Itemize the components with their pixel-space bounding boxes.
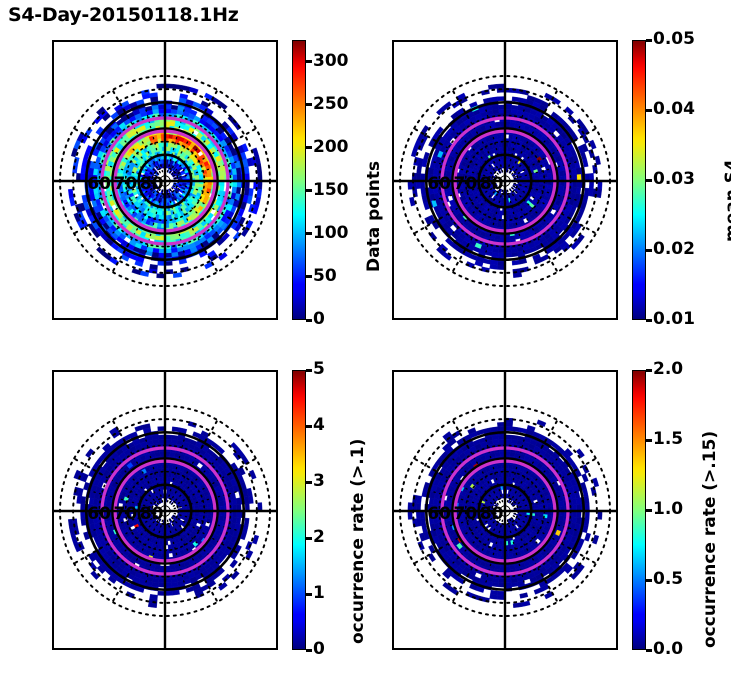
colorbar-tick-mark: [646, 579, 652, 582]
colorbar-tick-mark: [646, 439, 652, 442]
panel-occurrence-rate-p15: 607080: [392, 370, 618, 650]
colorbar-tick-mark: [646, 649, 652, 652]
colorbar-tick-label: 0.05: [653, 29, 695, 49]
colorbar-tick-mark: [646, 369, 652, 372]
radial-tick-label: 60: [87, 504, 111, 524]
colorbar-gradient-occurrence-rate-p1: [292, 370, 306, 650]
colorbar-tick-label: 2.0: [653, 359, 683, 379]
colorbar-tick-label: 1: [313, 583, 325, 603]
colorbar-tick-mark: [306, 103, 312, 106]
colorbar-mean-s4: 0.010.020.030.040.05: [632, 40, 646, 320]
colorbar-gradient-occurrence-rate-p15: [632, 370, 646, 650]
colorbar-tick-label: 100: [313, 223, 349, 243]
colorbar-tick-mark: [306, 189, 312, 192]
colorbar-gradient-data-points: [292, 40, 306, 320]
colorbar-tick-mark: [306, 537, 312, 540]
colorbar-tick-mark: [306, 146, 312, 149]
colorbar-tick-mark: [306, 60, 312, 63]
radial-tick-label: 60: [87, 174, 111, 194]
colorbar-tick-label: 1.5: [653, 429, 683, 449]
panel-occurrence-rate-p1: 607080: [52, 370, 278, 650]
colorbar-tick-mark: [646, 509, 652, 512]
radial-tick-label: 80: [480, 174, 504, 194]
panel-mean-s4: 607080: [392, 40, 618, 320]
radial-tick-label: 70: [114, 504, 138, 524]
colorbar-tick-label: 150: [313, 180, 349, 200]
page-title: S4-Day-20150118.1Hz: [8, 4, 239, 26]
radial-tick-label: 70: [114, 174, 138, 194]
colorbar-tick-mark: [306, 369, 312, 372]
colorbar-label-occurrence-rate-p1: occurrence rate (>.1): [348, 439, 368, 644]
radial-tick-label: 70: [454, 174, 478, 194]
colorbar-tick-label: 3: [313, 471, 325, 491]
colorbar-data-points: 050100150200250300: [292, 40, 306, 320]
colorbar-tick-label: 0.0: [653, 639, 683, 659]
colorbar-tick-label: 0: [313, 309, 325, 329]
colorbar-tick-label: 0.04: [653, 99, 695, 119]
colorbar-tick-label: 1.0: [653, 499, 683, 519]
colorbar-tick-mark: [646, 109, 652, 112]
colorbar-tick-label: 0: [313, 639, 325, 659]
colorbar-tick-mark: [306, 425, 312, 428]
colorbar-tick-label: 5: [313, 359, 325, 379]
colorbar-tick-mark: [646, 39, 652, 42]
colorbar-ticks-data-points: 050100150200250300: [306, 40, 366, 320]
colorbar-tick-label: 0.5: [653, 569, 683, 589]
colorbar-tick-mark: [306, 319, 312, 322]
colorbar-tick-mark: [306, 649, 312, 652]
colorbar-occurrence-rate-p15: 0.00.51.01.52.0: [632, 370, 646, 650]
colorbar-tick-mark: [306, 481, 312, 484]
colorbar-tick-label: 300: [313, 51, 349, 71]
figure-root: S4-Day-20150118.1Hz 607080 0501001502002…: [0, 0, 731, 674]
colorbar-tick-mark: [306, 593, 312, 596]
radial-tick-label: 70: [454, 504, 478, 524]
colorbar-tick-mark: [646, 249, 652, 252]
colorbar-tick-mark: [306, 232, 312, 235]
radial-tick-label: 80: [480, 504, 504, 524]
colorbar-label-data-points: Data points: [364, 161, 384, 272]
colorbar-tick-mark: [646, 179, 652, 182]
colorbar-tick-mark: [646, 319, 652, 322]
radial-tick-label: 80: [140, 504, 164, 524]
colorbar-tick-label: 0.01: [653, 309, 695, 329]
panel-data-points: 607080: [52, 40, 278, 320]
colorbar-tick-label: 0.03: [653, 169, 695, 189]
colorbar-tick-label: 0.02: [653, 239, 695, 259]
colorbar-tick-label: 2: [313, 527, 325, 547]
colorbar-occurrence-rate-p1: 012345: [292, 370, 306, 650]
colorbar-tick-label: 250: [313, 94, 349, 114]
colorbar-tick-label: 50: [313, 266, 337, 286]
colorbar-tick-mark: [306, 275, 312, 278]
colorbar-label-occurrence-rate-p15: occurrence rate (>.15): [700, 431, 720, 648]
radial-tick-label: 80: [140, 174, 164, 194]
radial-tick-label: 60: [427, 174, 451, 194]
colorbar-ticks-mean-s4: 0.010.020.030.040.05: [646, 40, 706, 320]
colorbar-ticks-occurrence-rate-p15: 0.00.51.01.52.0: [646, 370, 706, 650]
radial-tick-label: 60: [427, 504, 451, 524]
colorbar-tick-label: 4: [313, 415, 325, 435]
colorbar-label-mean-s4: mean S4: [722, 159, 731, 242]
colorbar-gradient-mean-s4: [632, 40, 646, 320]
colorbar-tick-label: 200: [313, 137, 349, 157]
